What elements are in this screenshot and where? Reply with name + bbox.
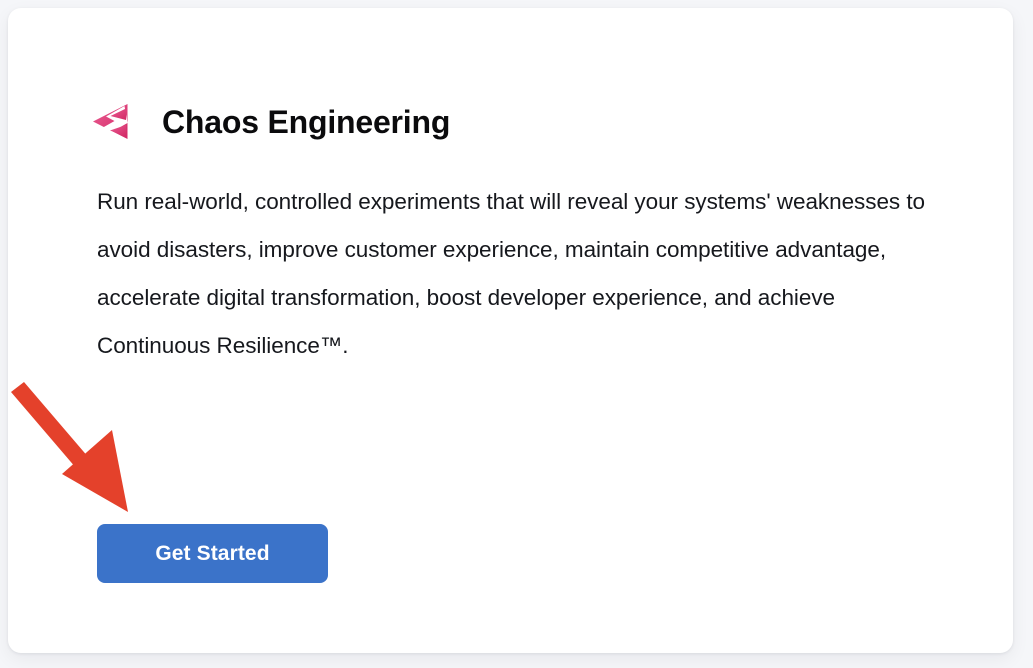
- get-started-button[interactable]: Get Started: [97, 524, 328, 583]
- chaos-engineering-card: Chaos Engineering Run real-world, contro…: [8, 8, 1013, 653]
- card-header: Chaos Engineering: [89, 90, 450, 154]
- card-description: Run real-world, controlled experiments t…: [97, 178, 947, 370]
- page-title: Chaos Engineering: [162, 106, 450, 138]
- chaos-arrow-logo-icon: [89, 101, 131, 143]
